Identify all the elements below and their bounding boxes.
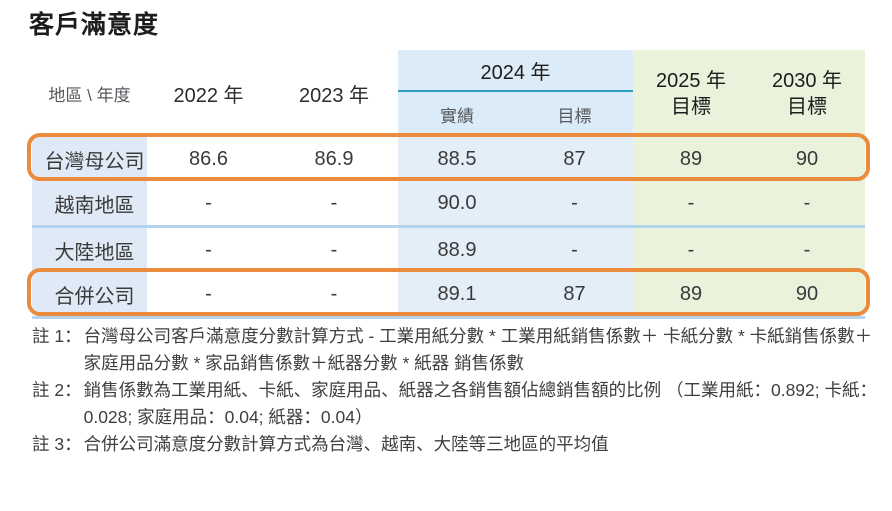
region-label: 台灣母公司: [32, 137, 147, 181]
customer-satisfaction-table: 地區 \ 年度 2022 年 2023 年 2024 年 2025 年 目標 2…: [32, 50, 865, 319]
cell-2030-target: 90: [749, 137, 865, 181]
cell-2024-target: 87: [516, 137, 633, 181]
cell-2025-target: 89: [633, 137, 749, 181]
cell-2025-target: -: [633, 181, 749, 227]
table-row: 越南地區 - - 90.0 - - -: [32, 181, 865, 227]
header-2030-line1: 2030 年: [749, 68, 865, 94]
cell-2024-actual: 88.9: [398, 227, 516, 273]
cell-2030-target: -: [749, 181, 865, 227]
cell-2022: -: [147, 227, 270, 273]
note-2-body: 銷售係數為工業用紙、卡紙、家庭用品、紙器之各銷售額佔總銷售額的比例 （工業用紙：…: [84, 377, 878, 431]
cell-2022: 86.6: [147, 137, 270, 181]
note-2-line-1: 銷售係數為工業用紙、卡紙、家庭用品、紙器之各銷售額佔總銷售額的比例: [84, 380, 662, 400]
cell-2023: -: [270, 272, 398, 318]
notes-block: 註 1： 台灣母公司客戶滿意度分數計算方式 - 工業用紙分數 * 工業用紙銷售係…: [32, 323, 878, 458]
header-2024-actual: 實績: [398, 91, 516, 137]
region-label: 越南地區: [32, 181, 147, 227]
table-header: 地區 \ 年度 2022 年 2023 年 2024 年 2025 年 目標 2…: [32, 50, 865, 137]
note-3: 註 3： 合併公司滿意度分數計算方式為台灣、越南、大陸等三地區的平均值: [32, 431, 878, 458]
note-3-body: 合併公司滿意度分數計算方式為台灣、越南、大陸等三地區的平均值: [84, 431, 878, 458]
header-2025-target: 2025 年 目標: [633, 50, 749, 137]
cell-2030-target: 90: [749, 272, 865, 318]
cell-2024-target: 87: [516, 272, 633, 318]
cell-2025-target: -: [633, 227, 749, 273]
header-stub: 地區 \ 年度: [32, 50, 147, 137]
cell-2025-target: 89: [633, 272, 749, 318]
table-row: 台灣母公司 86.6 86.9 88.5 87 89 90: [32, 137, 865, 181]
header-2022: 2022 年: [147, 50, 270, 137]
note-1-line-1: 台灣母公司客戶滿意度分數計算方式 - 工業用紙分數 * 工業用紙銷售係數＋: [84, 326, 659, 346]
note-1-label: 註 1：: [32, 323, 84, 350]
cell-2022: -: [147, 272, 270, 318]
note-1-line-3: 銷售係數: [454, 353, 524, 373]
header-2024-target: 目標: [516, 91, 633, 137]
header-row-top: 地區 \ 年度 2022 年 2023 年 2024 年 2025 年 目標 2…: [32, 50, 865, 91]
cell-2024-actual: 89.1: [398, 272, 516, 318]
table-row: 大陸地區 - - 88.9 - - -: [32, 227, 865, 273]
header-2025-line2: 目標: [633, 94, 749, 120]
note-3-label: 註 3：: [32, 431, 84, 458]
cell-2022: -: [147, 181, 270, 227]
note-1: 註 1： 台灣母公司客戶滿意度分數計算方式 - 工業用紙分數 * 工業用紙銷售係…: [32, 323, 878, 377]
cell-2023: -: [270, 227, 398, 273]
table-body: 台灣母公司 86.6 86.9 88.5 87 89 90 越南地區 - - 9…: [32, 137, 865, 318]
note-2-label: 註 2：: [32, 377, 84, 404]
header-2025-line1: 2025 年: [633, 68, 749, 94]
header-2030-line2: 目標: [749, 94, 865, 120]
table-row: 合併公司 - - 89.1 87 89 90: [32, 272, 865, 318]
satisfaction-table-wrap: 地區 \ 年度 2022 年 2023 年 2024 年 2025 年 目標 2…: [32, 50, 865, 312]
cell-2023: 86.9: [270, 137, 398, 181]
cell-2024-target: -: [516, 227, 633, 273]
header-2023: 2023 年: [270, 50, 398, 137]
note-2: 註 2： 銷售係數為工業用紙、卡紙、家庭用品、紙器之各銷售額佔總銷售額的比例 （…: [32, 377, 878, 431]
note-1-body: 台灣母公司客戶滿意度分數計算方式 - 工業用紙分數 * 工業用紙銷售係數＋ 卡紙…: [84, 323, 878, 377]
region-label: 合併公司: [32, 272, 147, 318]
cell-2030-target: -: [749, 227, 865, 273]
cell-2024-target: -: [516, 181, 633, 227]
header-2024-group: 2024 年: [398, 50, 633, 91]
note-3-line-1: 合併公司滿意度分數計算方式為台灣、越南、大陸等三地區的平均值: [84, 434, 609, 454]
cell-2023: -: [270, 181, 398, 227]
region-label: 大陸地區: [32, 227, 147, 273]
cell-2024-actual: 88.5: [398, 137, 516, 181]
cell-2024-actual: 90.0: [398, 181, 516, 227]
header-2030-target: 2030 年 目標: [749, 50, 865, 137]
page-title: 客戶滿意度: [29, 8, 159, 42]
